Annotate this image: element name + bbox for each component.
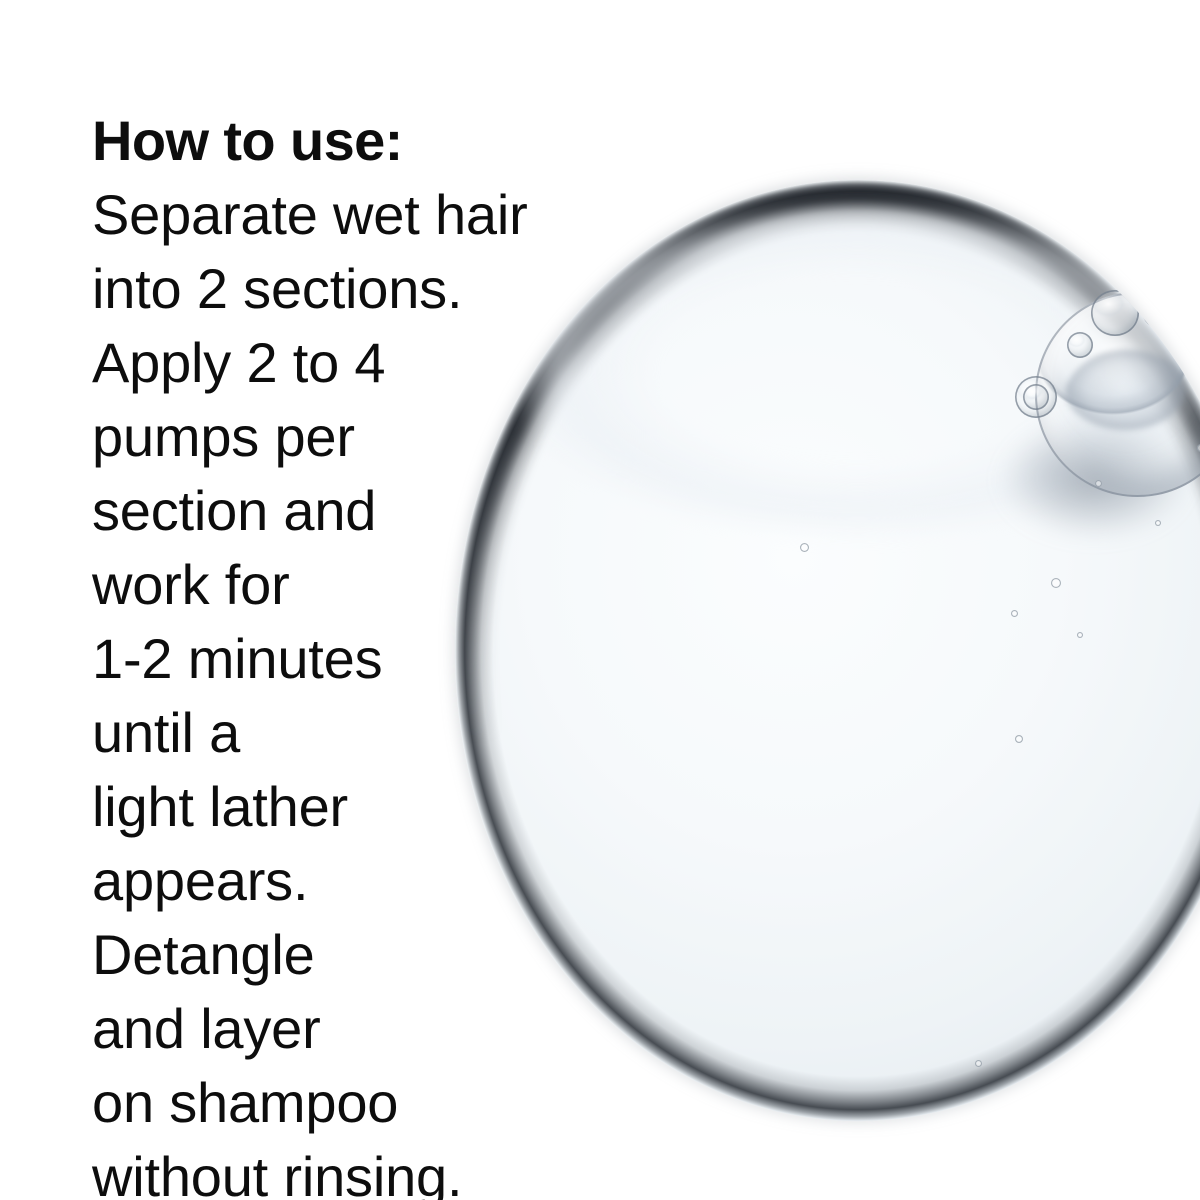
instruction-line: section and — [92, 474, 612, 548]
small-air-bubble — [1067, 332, 1093, 358]
micro-bubble — [975, 1060, 982, 1067]
micro-bubble — [1011, 610, 1018, 617]
micro-bubble — [1077, 632, 1083, 638]
large-air-bubble-core — [1063, 348, 1200, 458]
instruction-line: without rinsing. — [92, 1140, 612, 1200]
instruction-line: Apply 2 to 4 — [92, 326, 612, 400]
ring-air-bubble-inner — [1023, 384, 1049, 410]
micro-bubble — [800, 543, 809, 552]
instruction-line: and layer — [92, 992, 612, 1066]
small-air-bubble — [1141, 286, 1185, 330]
micro-bubble — [1015, 735, 1023, 743]
droplet-specular-highlight — [1093, 180, 1200, 269]
micro-bubble — [1155, 520, 1161, 526]
micro-bubble — [1095, 480, 1102, 487]
large-air-bubble — [1035, 292, 1200, 497]
instruction-line: work for — [92, 548, 612, 622]
how-to-use-heading: How to use: — [92, 104, 612, 178]
product-instruction-card: How to use: Separate wet hair into 2 sec… — [0, 0, 1200, 1200]
instruction-line: 1-2 minutes — [92, 622, 612, 696]
instruction-line: Separate wet hair — [92, 178, 612, 252]
instruction-line: on shampoo — [92, 1066, 612, 1140]
how-to-use-instructions: How to use: Separate wet hair into 2 sec… — [92, 104, 612, 1200]
instruction-line: Detangle — [92, 918, 612, 992]
small-air-bubble — [1091, 290, 1139, 336]
micro-bubble — [1051, 578, 1061, 588]
instruction-line: until a — [92, 696, 612, 770]
instruction-line: light lather — [92, 770, 612, 844]
bubble-cluster-shadow — [1000, 418, 1200, 568]
instruction-line: pumps per — [92, 400, 612, 474]
small-air-bubble — [1185, 290, 1200, 336]
instruction-line: appears. — [92, 844, 612, 918]
instruction-line: into 2 sections. — [92, 252, 612, 326]
ring-air-bubble — [1015, 376, 1057, 418]
